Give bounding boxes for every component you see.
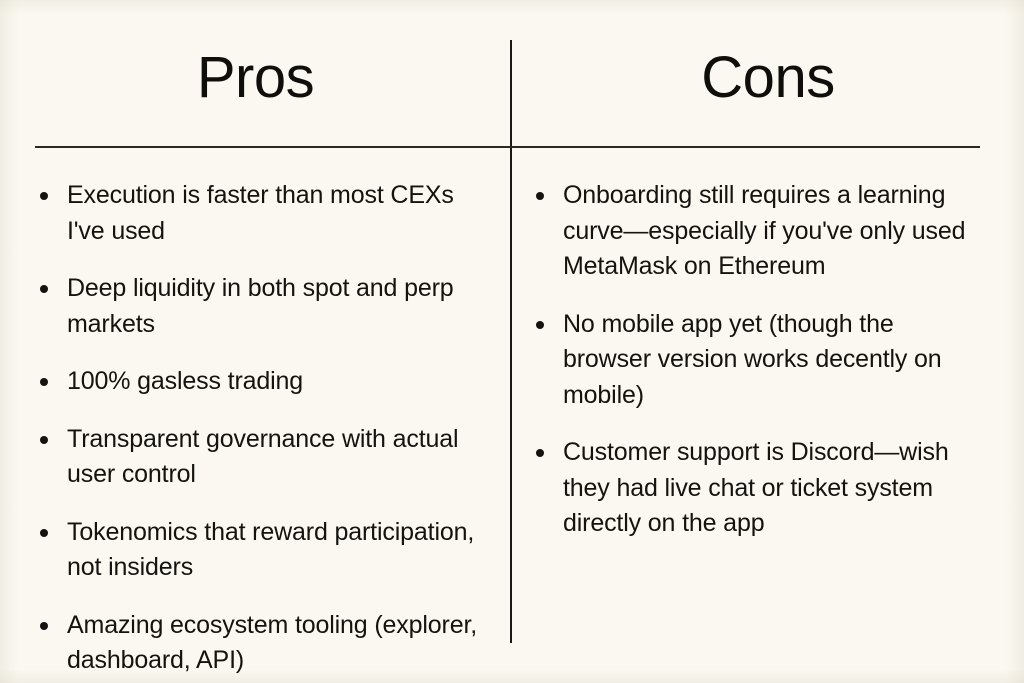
bullet-dot-icon	[40, 285, 48, 293]
bullet-dot-icon	[40, 436, 48, 444]
column-title-cons: Cons	[512, 47, 1024, 109]
list-item-text: Transparent governance with actual user …	[67, 422, 478, 493]
bullet-dot-icon	[536, 192, 544, 200]
bullet-list-cons: Onboarding still requires a learning cur…	[534, 178, 982, 542]
list-item: Amazing ecosystem tooling (explorer, das…	[38, 608, 478, 679]
list-item: Tokenomics that reward participation, no…	[38, 515, 478, 586]
bullet-dot-icon	[40, 529, 48, 537]
pros-cons-board: Pros Execution is faster than most CEXs …	[0, 0, 1024, 683]
bullet-dot-icon	[536, 449, 544, 457]
column-cons: Cons Onboarding still requires a learnin…	[512, 0, 1024, 683]
bullet-dot-icon	[40, 622, 48, 630]
list-item-text: Onboarding still requires a learning cur…	[563, 178, 982, 285]
list-item-text: Tokenomics that reward participation, no…	[67, 515, 478, 586]
bullet-dot-icon	[40, 192, 48, 200]
list-item-text: Execution is faster than most CEXs I've …	[67, 178, 478, 249]
column-pros: Pros Execution is faster than most CEXs …	[0, 0, 511, 683]
list-item: 100% gasless trading	[38, 364, 478, 400]
bullet-list-pros: Execution is faster than most CEXs I've …	[38, 178, 478, 679]
list-item: Deep liquidity in both spot and perp mar…	[38, 271, 478, 342]
list-item-text: Deep liquidity in both spot and perp mar…	[67, 271, 478, 342]
list-item: Execution is faster than most CEXs I've …	[38, 178, 478, 249]
column-title-pros: Pros	[0, 47, 543, 109]
list-item: Transparent governance with actual user …	[38, 422, 478, 493]
bullet-dot-icon	[536, 321, 544, 329]
list-item-text: No mobile app yet (though the browser ve…	[563, 307, 982, 414]
bullet-dot-icon	[40, 378, 48, 386]
list-item-text: Amazing ecosystem tooling (explorer, das…	[67, 608, 478, 679]
list-item: Onboarding still requires a learning cur…	[534, 178, 982, 285]
list-item-text: Customer support is Discord—wish they ha…	[563, 435, 982, 542]
list-item: Customer support is Discord—wish they ha…	[534, 435, 982, 542]
list-item-text: 100% gasless trading	[67, 364, 478, 400]
list-item: No mobile app yet (though the browser ve…	[534, 307, 982, 414]
